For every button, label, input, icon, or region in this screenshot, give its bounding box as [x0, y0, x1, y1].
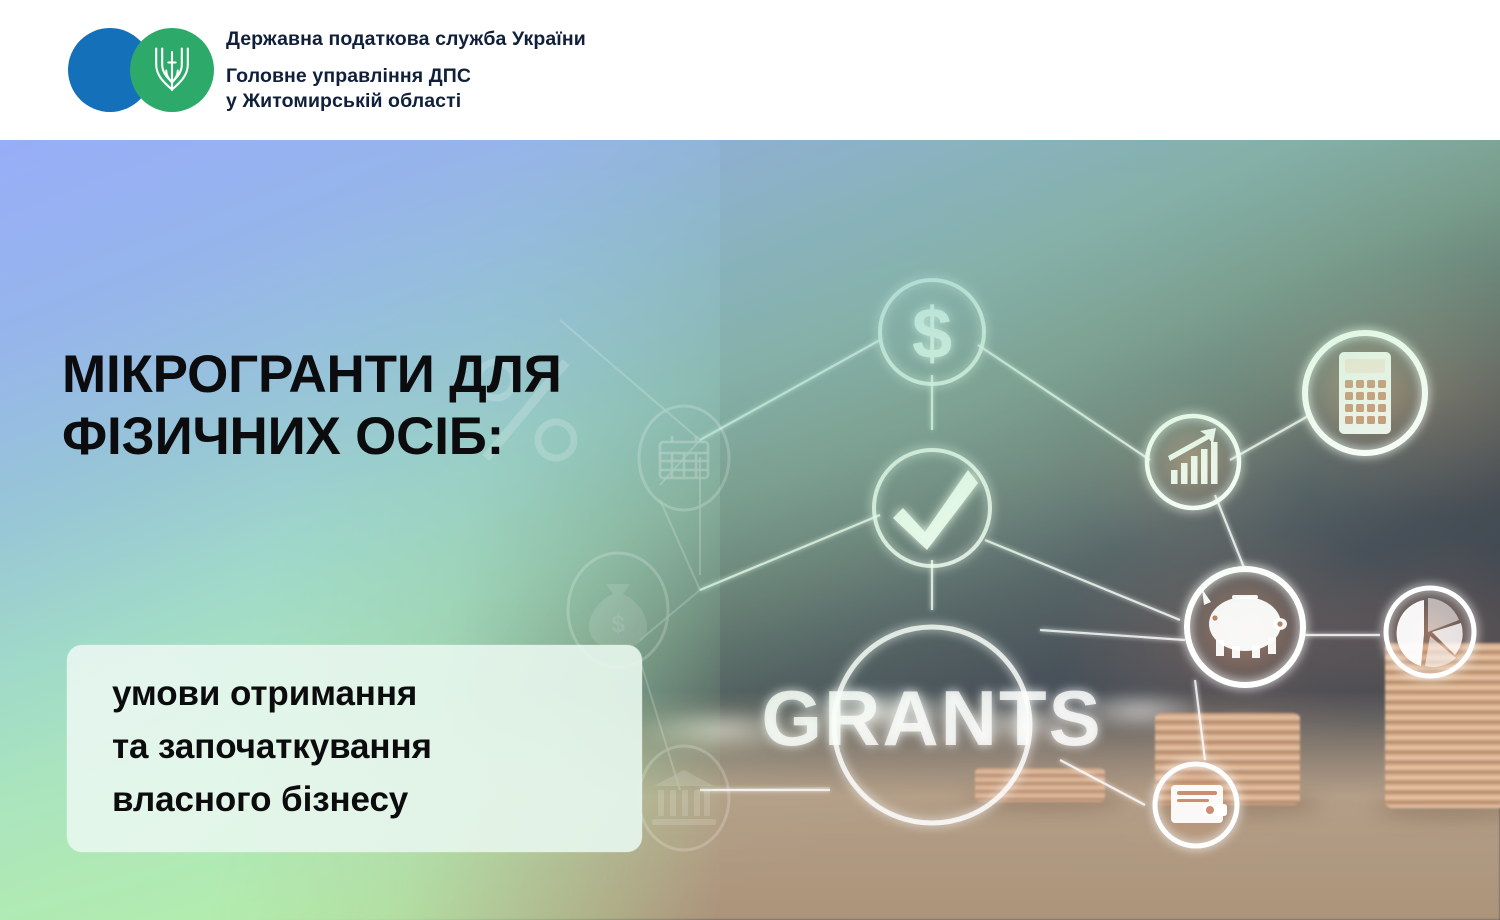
organization-title: Державна податкова служба України Головн…	[226, 30, 746, 115]
org-department-line1: Головне управління ДПС	[226, 64, 746, 90]
subtitle-text: умови отримання та започаткування власно…	[112, 667, 632, 827]
site-header: Державна податкова служба України Головн…	[0, 0, 1500, 140]
subtitle-line-3: власного бізнесу	[112, 773, 632, 826]
hero-banner: $ GRANTS	[0, 140, 1500, 920]
poster: Державна податкова служба України Головн…	[0, 0, 1500, 920]
subtitle-line-2: та започаткування	[112, 720, 632, 773]
title-line-1: МІКРОГРАНТИ ДЛЯ	[62, 345, 562, 404]
title-line-2: ФІЗИЧНИХ ОСІБ:	[62, 406, 702, 468]
bank-building-icon	[639, 746, 729, 850]
org-name-line: Державна податкова служба України	[226, 30, 746, 50]
page-title: МІКРОГРАНТИ ДЛЯ ФІЗИЧНИХ ОСІБ:	[62, 344, 702, 468]
svg-text:$: $	[611, 611, 625, 638]
subtitle-line-1: умови отримання	[112, 667, 632, 720]
organization-logo	[68, 28, 216, 112]
ukraine-trident-icon	[153, 44, 191, 96]
subtitle-panel: умови отримання та започаткування власно…	[67, 645, 642, 852]
org-department-line2: у Житомирській області	[226, 89, 746, 115]
